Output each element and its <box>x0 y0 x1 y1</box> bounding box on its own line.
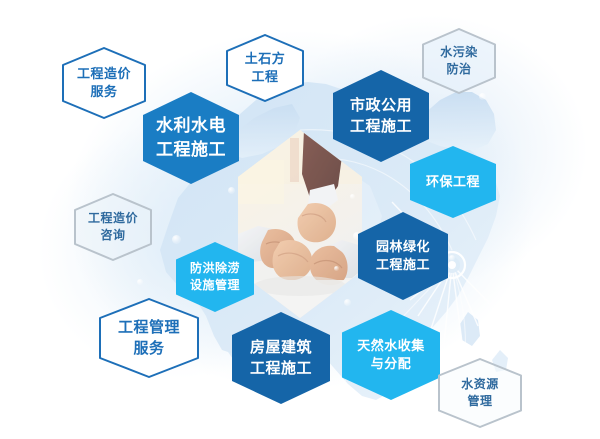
hexagon-engineering-management-service[interactable]: 工程管理 服务 <box>99 298 199 378</box>
hexagon-label: 水资源 管理 <box>455 376 505 410</box>
hexagon-label: 工程管理 服务 <box>112 317 186 360</box>
hexagon-label: 天然水收集 与分配 <box>351 337 431 374</box>
hexagon-engineering-cost-service[interactable]: 工程造价 服务 <box>62 47 146 119</box>
infographic-canvas: 工程造价 服务土石方 工程水利水电 工程施工市政公用 工程施工水污染 防治环保工… <box>0 0 600 439</box>
hexagon-environmental-protection-engineering[interactable]: 环保工程 <box>410 146 496 218</box>
hexagon-water-pollution-control[interactable]: 水污染 防治 <box>422 28 496 94</box>
hexagon-landscape-greening-construction[interactable]: 园林绿化 工程施工 <box>358 212 448 300</box>
hexagon-label: 水利水电 工程施工 <box>150 114 232 162</box>
hexagon-engineering-cost-consulting[interactable]: 工程造价 咨询 <box>74 193 152 261</box>
hexagon-label: 工程造价 咨询 <box>82 210 144 244</box>
hexagon-label: 工程造价 服务 <box>71 65 137 102</box>
hexagon-label: 房屋建筑 工程施工 <box>244 337 318 380</box>
hexagon-water-conservancy-hydropower-construction[interactable]: 水利水电 工程施工 <box>143 92 239 184</box>
hexagon-building-construction-engineering[interactable]: 房屋建筑 工程施工 <box>232 312 330 404</box>
hexagon-water-resource-management[interactable]: 水资源 管理 <box>438 358 522 428</box>
hexagon-label: 市政公用 工程施工 <box>344 95 418 138</box>
hexagon-label: 园林绿化 工程施工 <box>370 238 436 275</box>
hexagon-label: 防洪除涝 设施管理 <box>184 260 246 294</box>
hexagon-label: 水污染 防治 <box>434 44 484 78</box>
hexagon-natural-water-collection-distribution[interactable]: 天然水收集 与分配 <box>342 310 440 400</box>
hexagon-label: 环保工程 <box>420 173 486 191</box>
hexagon-label: 土石方 工程 <box>239 50 292 87</box>
